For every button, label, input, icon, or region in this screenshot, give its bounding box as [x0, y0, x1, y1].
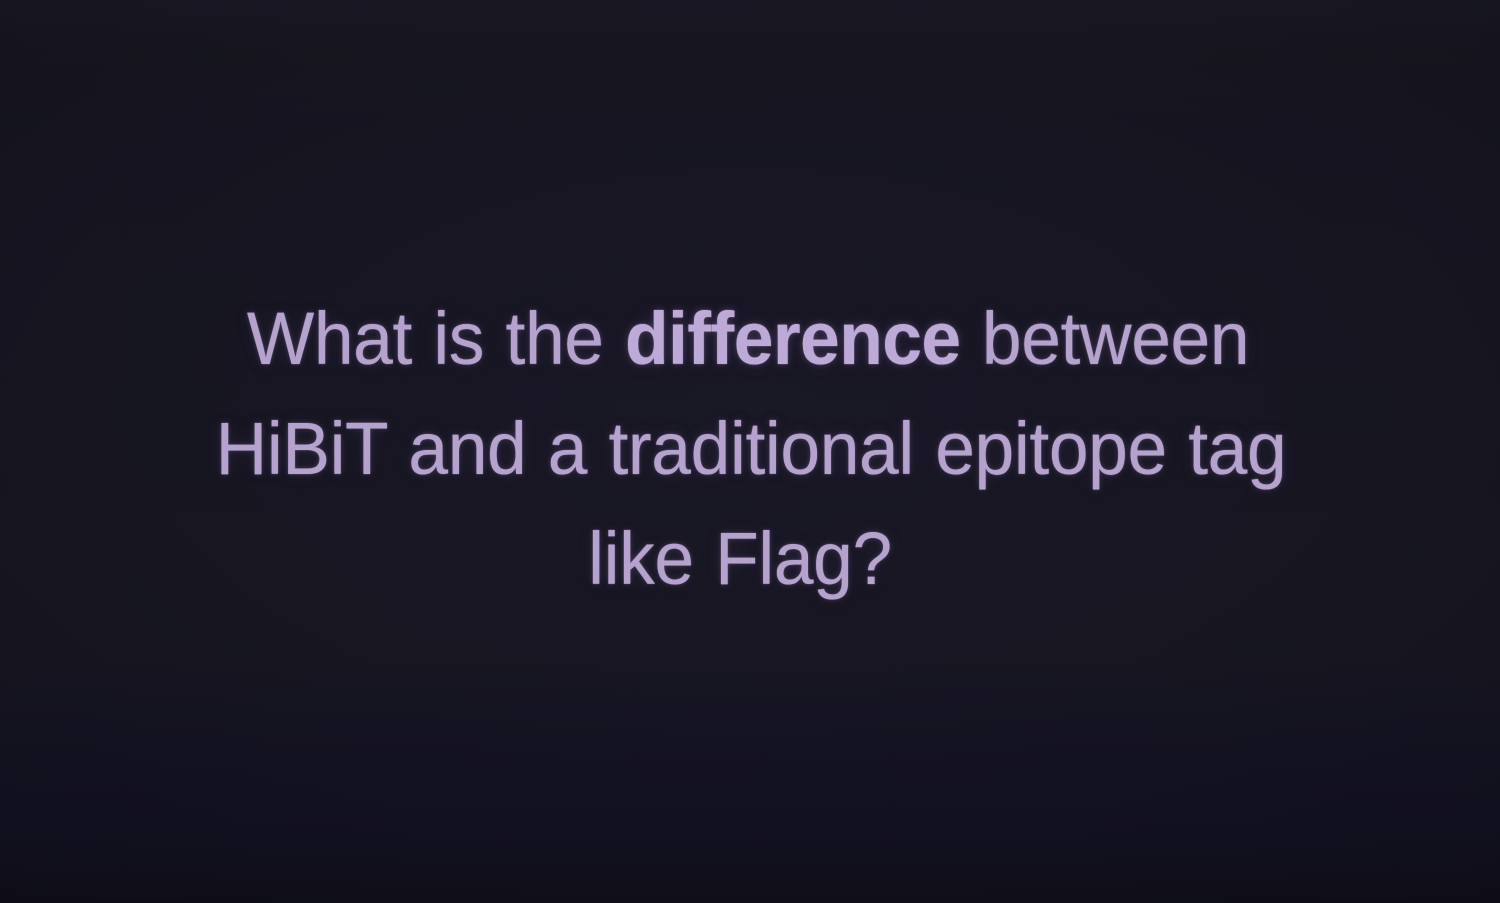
question-text-block: What is the difference between HiBiT and…: [0, 284, 1500, 614]
question-line-1: What is the difference between: [109, 284, 1387, 394]
question-line-1-tail: between: [961, 297, 1250, 380]
question-line-2: HiBiT and a traditional epitope tag: [115, 394, 1387, 504]
question-emphasis-difference: difference: [625, 297, 961, 380]
question-slide: What is the difference between HiBiT and…: [0, 0, 1500, 903]
question-line-1-lead: What is the: [247, 297, 625, 380]
question-line-3: like Flag?: [93, 504, 1386, 614]
